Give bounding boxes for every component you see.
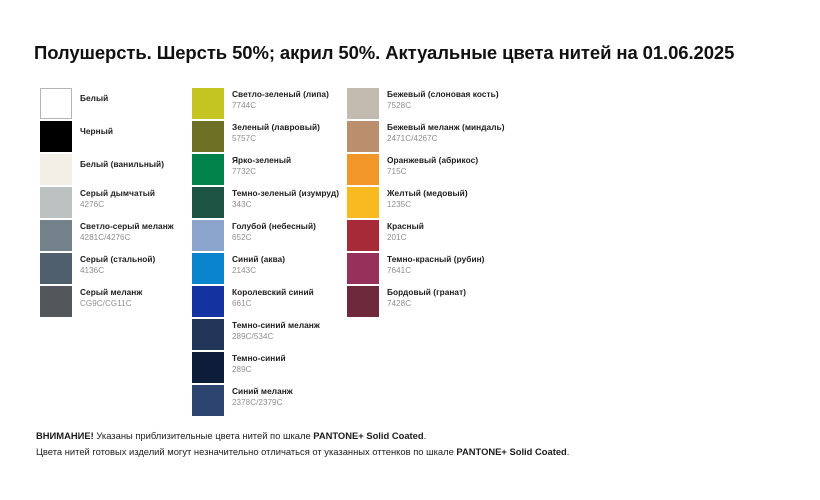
color-row: Белый (ванильный) [40, 154, 215, 187]
color-swatch [192, 253, 224, 284]
color-name: Бордовый (гранат) [387, 287, 522, 298]
color-swatch [192, 352, 224, 383]
color-column-neutrals: БелыйЧерныйБелый (ванильный)Серый дымчат… [40, 88, 215, 319]
footer-line-2-text: Цвета нитей готовых изделий могут незнач… [36, 446, 456, 457]
color-row: Темно-синий289C [192, 352, 367, 385]
color-labels: Темно-синий289C [232, 353, 367, 375]
color-pantone-code: 2378C/2379C [232, 397, 367, 408]
color-swatch [192, 187, 224, 218]
color-swatch [347, 154, 379, 185]
color-swatch [192, 88, 224, 119]
color-pantone-code: 7428C [387, 298, 522, 309]
color-row: Темно-синий меланж289C/534C [192, 319, 367, 352]
color-labels: Синий меланж2378C/2379C [232, 386, 367, 408]
page-title: Полушерсть. Шерсть 50%; акрил 50%. Актуа… [34, 42, 734, 64]
color-swatch [40, 253, 72, 284]
color-column-greens-blues: Светло-зеленый (липа)7744CЗеленый (лавро… [192, 88, 367, 418]
color-name: Синий меланж [232, 386, 367, 397]
color-pantone-code: 1235C [387, 199, 522, 210]
color-row: Оранжевый (абрикос)715C [347, 154, 522, 187]
color-name: Темно-синий [232, 353, 367, 364]
color-pantone-code: 289C/534C [232, 331, 367, 342]
color-row: Желтый (медовый)1235C [347, 187, 522, 220]
color-name: Красный [387, 221, 522, 232]
color-swatch [347, 253, 379, 284]
color-row: Темно-зеленый (изумруд)343C [192, 187, 367, 220]
footer-attention-label: ВНИМАНИЕ! [36, 430, 94, 441]
color-pantone-code: 289C [232, 364, 367, 375]
color-name: Темно-красный (рубин) [387, 254, 522, 265]
color-labels: Бордовый (гранат)7428C [387, 287, 522, 309]
color-swatch [192, 121, 224, 152]
color-row: Бежевый (слоновая кость)7528C [347, 88, 522, 121]
footer-line-1-text: Указаны приблизительные цвета нитей по ш… [94, 430, 314, 441]
color-name: Бежевый меланж (миндаль) [387, 122, 522, 133]
color-row: Черный [40, 121, 215, 154]
color-chart-page: Полушерсть. Шерсть 50%; акрил 50%. Актуа… [0, 0, 820, 500]
footer-line-2-end: . [567, 446, 570, 457]
color-name: Бежевый (слоновая кость) [387, 89, 522, 100]
color-name: Желтый (медовый) [387, 188, 522, 199]
color-row: Синий (аква)2143C [192, 253, 367, 286]
color-swatch [347, 220, 379, 251]
color-labels: Оранжевый (абрикос)715C [387, 155, 522, 177]
color-pantone-code: 201C [387, 232, 522, 243]
color-pantone-code: 715C [387, 166, 522, 177]
color-row: Светло-серый меланж4281C/4276C [40, 220, 215, 253]
color-row: Светло-зеленый (липа)7744C [192, 88, 367, 121]
color-name: Темно-синий меланж [232, 320, 367, 331]
color-swatch [192, 220, 224, 251]
color-swatch [192, 319, 224, 350]
color-row: Белый [40, 88, 215, 121]
color-swatch [192, 154, 224, 185]
color-swatch [192, 385, 224, 416]
color-labels: Бежевый меланж (миндаль)2471C/4267C [387, 122, 522, 144]
color-labels: Бежевый (слоновая кость)7528C [387, 89, 522, 111]
footer-line-1-end: . [424, 430, 427, 441]
footer-pantone-label-2: PANTONE+ Solid Coated [456, 446, 566, 457]
color-swatch [40, 187, 72, 218]
color-labels: Красный201C [387, 221, 522, 243]
footer-line-1: ВНИМАНИЕ! Указаны приблизительные цвета … [36, 428, 796, 444]
color-swatch [40, 154, 72, 185]
color-swatch [347, 187, 379, 218]
color-row: Бежевый меланж (миндаль)2471C/4267C [347, 121, 522, 154]
color-row: Красный201C [347, 220, 522, 253]
color-row: Серый дымчатый4276C [40, 187, 215, 220]
footer-line-2: Цвета нитей готовых изделий могут незнач… [36, 444, 796, 460]
color-pantone-code: 7528C [387, 100, 522, 111]
color-row: Серый (стальной)4136C [40, 253, 215, 286]
color-row: Голубой (небесный)652C [192, 220, 367, 253]
color-labels: Темно-красный (рубин)7641C [387, 254, 522, 276]
color-labels: Темно-синий меланж289C/534C [232, 320, 367, 342]
color-row: Бордовый (гранат)7428C [347, 286, 522, 319]
color-swatch [40, 121, 72, 152]
color-row: Королевский синий661C [192, 286, 367, 319]
color-row: Зеленый (лавровый)5757C [192, 121, 367, 154]
color-swatch [40, 88, 72, 119]
footer-pantone-label-1: PANTONE+ Solid Coated [313, 430, 423, 441]
color-swatch [347, 286, 379, 317]
color-swatch [347, 88, 379, 119]
color-pantone-code: 2471C/4267C [387, 133, 522, 144]
color-row: Синий меланж2378C/2379C [192, 385, 367, 418]
color-labels: Желтый (медовый)1235C [387, 188, 522, 210]
color-row: Ярко-зеленый7732C [192, 154, 367, 187]
color-swatch [192, 286, 224, 317]
color-pantone-code: 7641C [387, 265, 522, 276]
color-swatch [40, 220, 72, 251]
color-column-warms-reds: Бежевый (слоновая кость)7528CБежевый мел… [347, 88, 522, 319]
color-row: Темно-красный (рубин)7641C [347, 253, 522, 286]
color-swatch [347, 121, 379, 152]
color-swatch [40, 286, 72, 317]
color-name: Оранжевый (абрикос) [387, 155, 522, 166]
color-row: Серый меланжCG9C/CG11C [40, 286, 215, 319]
footer-notice: ВНИМАНИЕ! Указаны приблизительные цвета … [36, 428, 796, 459]
